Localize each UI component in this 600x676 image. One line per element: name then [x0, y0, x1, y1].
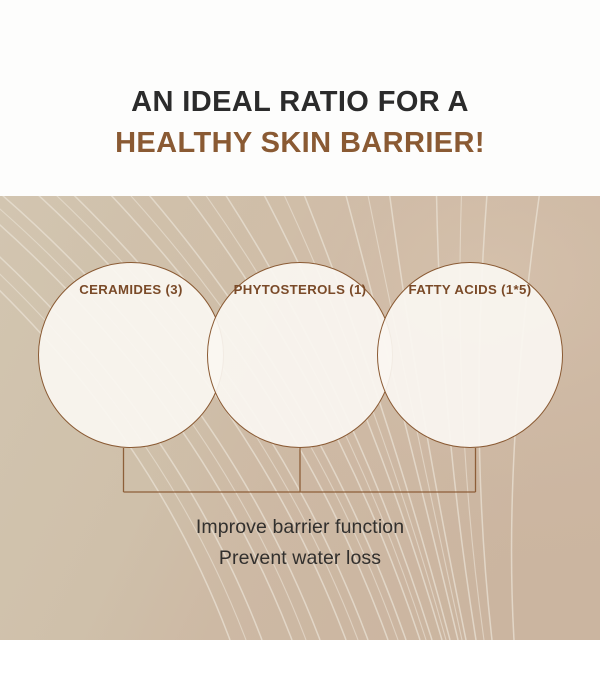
- headline-line-1: AN IDEAL RATIO FOR A: [0, 82, 600, 123]
- outcome-line-2: Prevent water loss: [0, 543, 600, 574]
- page-title: AN IDEAL RATIO FOR A HEALTHY SKIN BARRIE…: [0, 0, 600, 164]
- outcome-line-1: Improve barrier function: [0, 512, 600, 543]
- header-band: AN IDEAL RATIO FOR A HEALTHY SKIN BARRIE…: [0, 0, 600, 196]
- label-ceramides: CERAMIDES (3): [38, 196, 224, 382]
- outcomes-text: Improve barrier function Prevent water l…: [0, 512, 600, 574]
- label-phytosterols: PHYTOSTEROLS (1): [207, 196, 393, 382]
- skin-barrier-infographic: AN IDEAL RATIO FOR A HEALTHY SKIN BARRIE…: [0, 0, 600, 676]
- footer-band: [0, 640, 600, 676]
- label-fatty-acids: FATTY ACIDS (1*5): [377, 196, 563, 382]
- headline-line-2: HEALTHY SKIN BARRIER!: [0, 123, 600, 164]
- diagram-panel: CERAMIDES (3) PHYTOSTEROLS (1) FATTY ACI…: [0, 196, 600, 640]
